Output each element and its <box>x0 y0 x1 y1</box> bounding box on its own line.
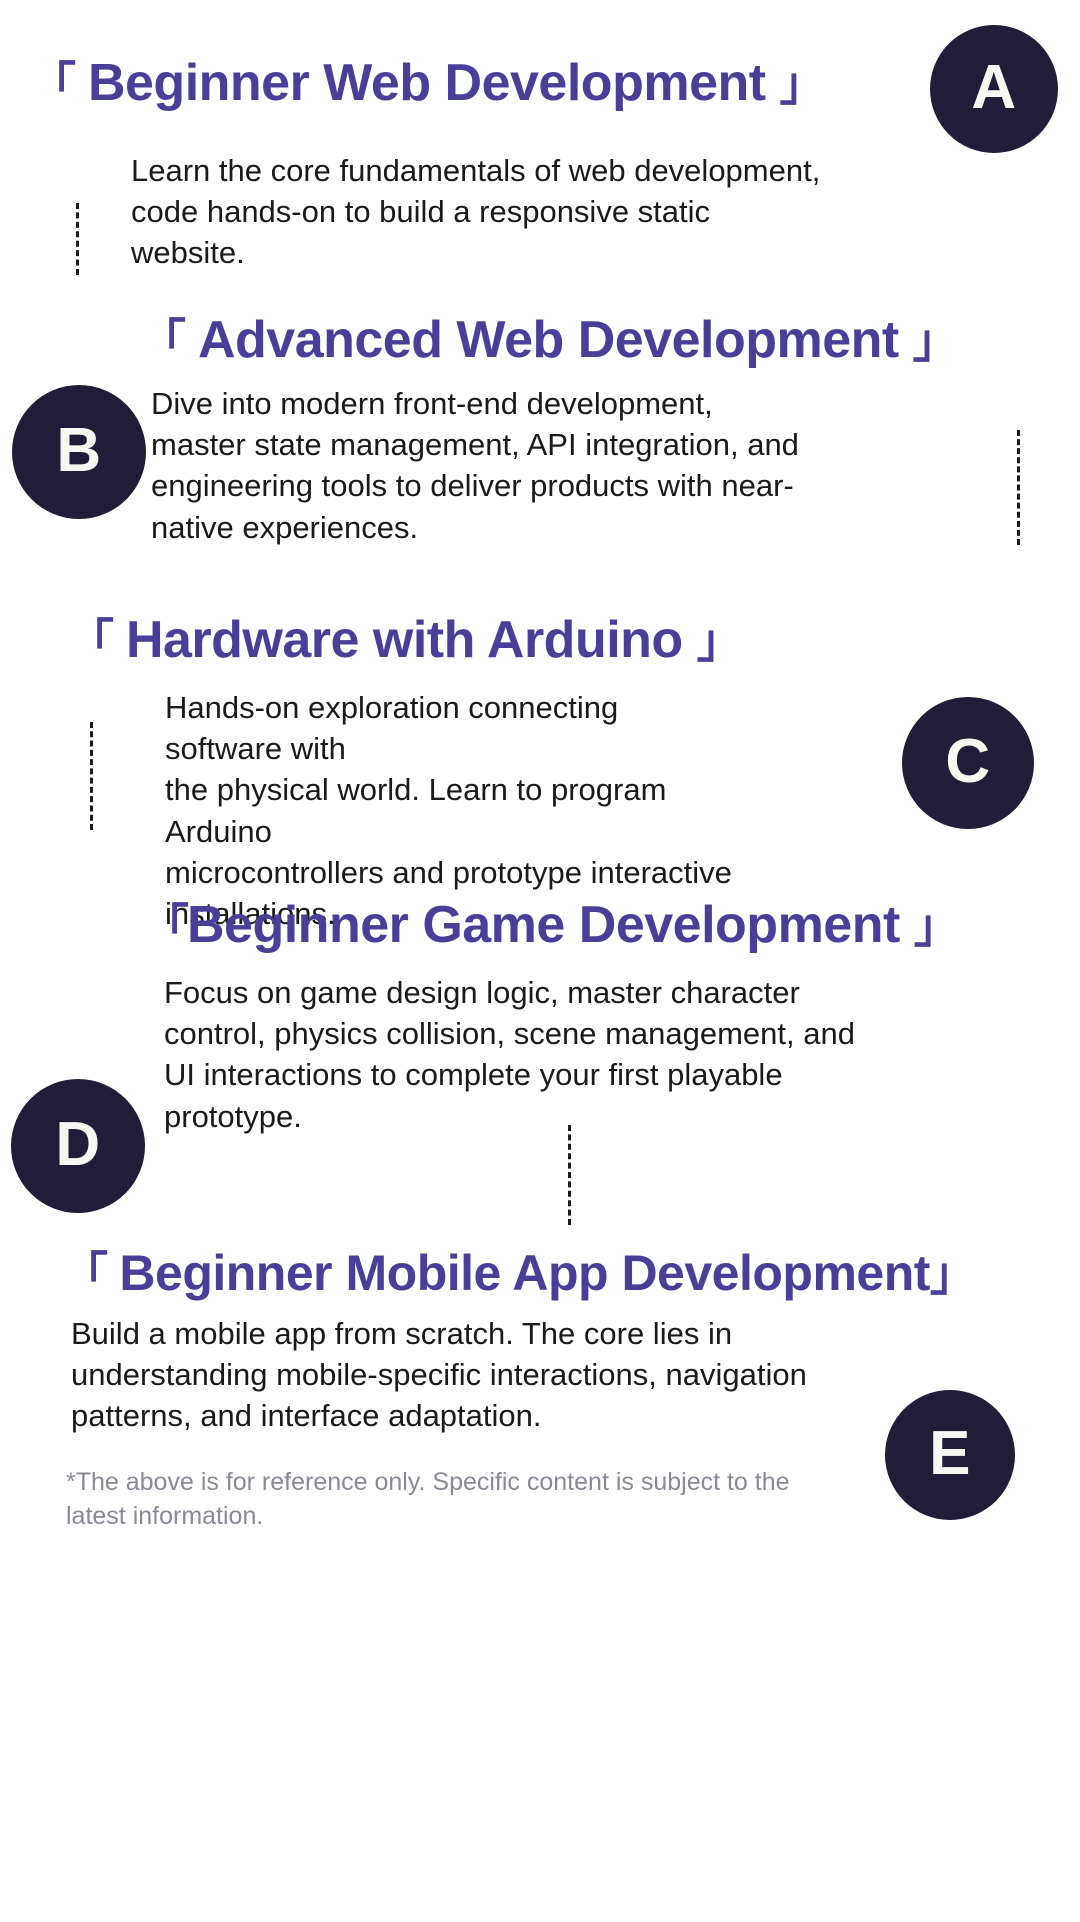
course-title-text-c: Hardware with Arduino <box>126 611 683 669</box>
bracket-close-icon: 」 <box>780 58 824 110</box>
badge-letter-d: D <box>55 1114 100 1176</box>
badge-circle-d: D <box>11 1079 145 1213</box>
course-body-d: Focus on game design logic, master chara… <box>164 972 855 1137</box>
bracket-close-icon: 」 <box>697 615 741 667</box>
bracket-open-icon: 「 <box>30 58 74 110</box>
bracket-open-icon: 「 <box>140 315 184 367</box>
course-section-c: 「 Hardware with Arduino 」 Hands-on explo… <box>68 613 741 668</box>
course-title-text-e: Beginner Mobile App Development <box>119 1245 930 1301</box>
connector-dashed-a-b <box>76 203 79 275</box>
course-body-wrap-d: Focus on game design logic, master chara… <box>164 972 855 1137</box>
badge-letter-c: C <box>945 731 990 793</box>
course-body-a: Learn the core fundamentals of web devel… <box>131 150 824 274</box>
course-body-wrap-e: Build a mobile app from scratch. The cor… <box>71 1313 807 1437</box>
disclaimer-text: *The above is for reference only. Specif… <box>66 1466 946 1534</box>
course-body-wrap-a: Learn the core fundamentals of web devel… <box>131 150 824 274</box>
infographic-canvas: A B C D E 「 Beginner Web Development 」 L… <box>0 0 1080 1922</box>
course-title-e: 「 Beginner Mobile App Development」 <box>62 1247 974 1300</box>
bracket-open-icon: 「 <box>62 1248 106 1300</box>
course-title-b: 「 Advanced Web Development 」 <box>140 313 957 368</box>
bracket-close-icon: 」 <box>930 1248 974 1300</box>
badge-letter-b: B <box>56 420 101 482</box>
badge-circle-a: A <box>930 25 1058 153</box>
connector-dashed-c-d <box>90 722 93 830</box>
course-title-a: 「 Beginner Web Development 」 <box>30 56 824 111</box>
course-section-d: 「Beginner Game Development 」 Focus on ga… <box>143 898 958 953</box>
bracket-close-icon: 」 <box>914 900 958 952</box>
course-section-a: 「 Beginner Web Development 」 Learn the c… <box>30 56 824 111</box>
course-title-c: 「 Hardware with Arduino 」 <box>68 613 741 668</box>
badge-letter-a: A <box>971 57 1016 119</box>
course-body-b: Dive into modern front-end development, … <box>151 383 799 548</box>
course-title-d: 「Beginner Game Development 」 <box>143 898 958 953</box>
bracket-open-icon: 「 <box>143 900 187 952</box>
course-body-wrap-b: Dive into modern front-end development, … <box>151 383 799 548</box>
course-section-e: 「 Beginner Mobile App Development」 Build… <box>62 1247 974 1300</box>
bracket-close-icon: 」 <box>913 315 957 367</box>
course-title-text-b: Advanced Web Development <box>198 311 899 369</box>
course-title-text-a: Beginner Web Development <box>88 54 766 112</box>
connector-dashed-b-c <box>1017 430 1020 545</box>
course-title-text-d: Beginner Game Development <box>187 896 900 954</box>
course-section-b: 「 Advanced Web Development 」 Dive into m… <box>140 313 957 368</box>
course-body-e: Build a mobile app from scratch. The cor… <box>71 1313 807 1437</box>
bracket-open-icon: 「 <box>68 615 112 667</box>
connector-dashed-d-e <box>568 1125 571 1225</box>
badge-circle-c: C <box>902 697 1034 829</box>
badge-circle-b: B <box>12 385 146 519</box>
